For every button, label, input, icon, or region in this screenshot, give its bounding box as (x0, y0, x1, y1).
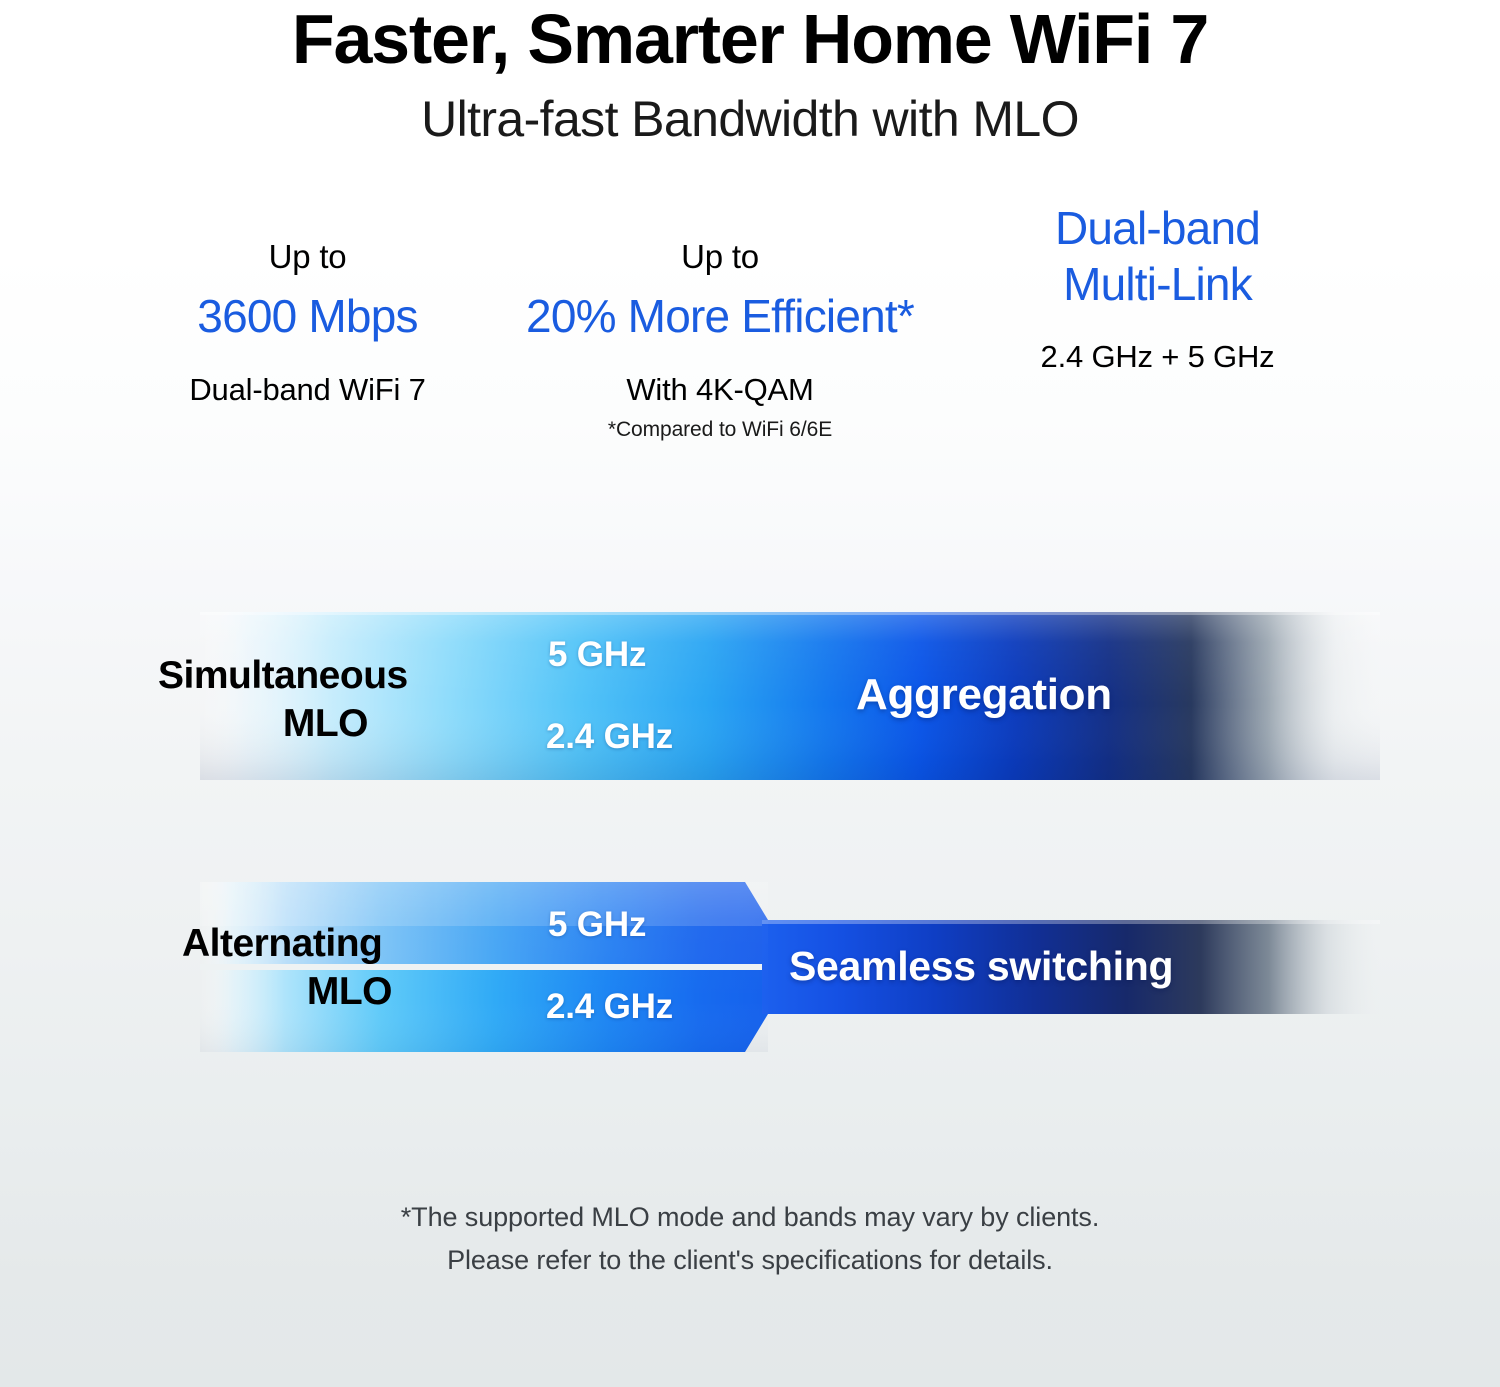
page-subtitle: Ultra-fast Bandwidth with MLO (0, 78, 1500, 147)
alternating-mlo-label: Alternating MLO (182, 920, 392, 1015)
label-line-1: Simultaneous (158, 652, 368, 700)
stat-value: 3600 Mbps (150, 288, 465, 344)
stat-value-line-2: Multi-Link (975, 256, 1340, 312)
stats-row: Up to 3600 Mbps Dual-band WiFi 7 Up to 2… (0, 238, 1500, 442)
header: Faster, Smarter Home WiFi 7 Ultra-fast B… (0, 0, 1500, 147)
stat-footnote: *Compared to WiFi 6/6E (465, 418, 975, 442)
footnote: *The supported MLO mode and bands may va… (0, 1196, 1500, 1282)
stat-card-speed: Up to 3600 Mbps Dual-band WiFi 7 (0, 238, 465, 408)
label-line-1: Alternating (182, 920, 392, 968)
footnote-line-1: *The supported MLO mode and bands may va… (0, 1196, 1500, 1239)
stat-value: Dual-band Multi-Link (975, 200, 1340, 312)
stat-value-line-1: Dual-band (975, 200, 1340, 256)
label-line-2: MLO (158, 700, 368, 748)
row2-band-24ghz: 2.4 GHz (546, 987, 673, 1027)
row2-band-5ghz: 5 GHz (548, 905, 646, 945)
footnote-line-2: Please refer to the client's specificati… (0, 1239, 1500, 1282)
stat-eyebrow: Up to (150, 238, 465, 278)
stat-card-multilink: Dual-band Multi-Link 2.4 GHz + 5 GHz (975, 238, 1500, 375)
mlo-diagram-graphics (0, 560, 1500, 1100)
mlo-diagram: Simultaneous MLO 5 GHz 2.4 GHz Aggregati… (0, 560, 1500, 1100)
stat-caption: Dual-band WiFi 7 (150, 371, 465, 408)
row1-band-5ghz: 5 GHz (548, 635, 646, 675)
row2-result-seamless-switching: Seamless switching (789, 943, 1173, 990)
stat-value: 20% More Efficient* (465, 288, 975, 344)
stat-caption: With 4K-QAM (465, 371, 975, 408)
row1-result-aggregation: Aggregation (856, 670, 1112, 720)
page-title: Faster, Smarter Home WiFi 7 (0, 0, 1500, 78)
stat-eyebrow: Up to (465, 238, 975, 278)
stat-caption: 2.4 GHz + 5 GHz (975, 338, 1340, 375)
stat-card-efficiency: Up to 20% More Efficient* With 4K-QAM *C… (465, 238, 975, 442)
simultaneous-mlo-label: Simultaneous MLO (158, 652, 368, 747)
row1-band-24ghz: 2.4 GHz (546, 717, 673, 757)
label-line-2: MLO (182, 968, 392, 1016)
